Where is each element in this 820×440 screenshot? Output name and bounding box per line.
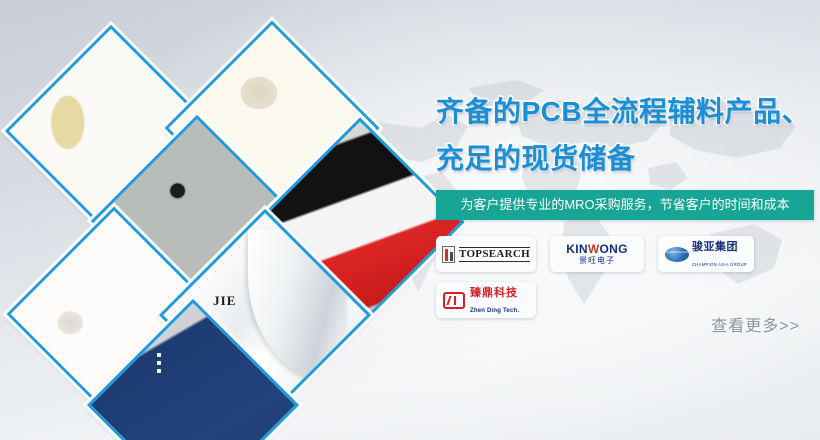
globe-icon — [665, 247, 689, 262]
logo-row-1: TOPSEARCH KINWONG 景旺电子 骏亚集团 CHAMPION ASI — [436, 236, 820, 272]
kinwong-chinese-name: 景旺电子 — [566, 257, 627, 265]
logo-topsearch[interactable]: TOPSEARCH — [436, 236, 536, 272]
kinwong-wordmark: KINWONG — [566, 243, 627, 255]
product-collage: JIE — [0, 0, 420, 440]
promo-banner: JIE 齐备的PCB全流程辅料产品、 充足的现货储备 为客户提供专业的MRO采购… — [0, 0, 820, 440]
topsearch-lockup: TOPSEARCH — [442, 246, 530, 263]
logo-kinwong[interactable]: KINWONG 景旺电子 — [550, 236, 644, 272]
zhen-ding-text: 臻鼎科技 Zhen Ding Tech. — [470, 284, 529, 316]
zhen-ding-mark-icon — [443, 292, 465, 309]
champion-asia-text: 骏亚集团 CHAMPION ASIA GROUP — [692, 238, 747, 270]
logo-zhen-ding[interactable]: 臻鼎科技 Zhen Ding Tech. — [436, 282, 536, 318]
zhen-ding-lockup: 臻鼎科技 Zhen Ding Tech. — [443, 284, 529, 316]
headline-line-2: 充足的现货储备 — [436, 137, 820, 177]
headline-line-1: 齐备的PCB全流程辅料产品、 — [436, 90, 820, 130]
zhen-ding-chinese-name: 臻鼎科技 — [470, 286, 518, 299]
zhen-ding-english-name: Zhen Ding Tech. — [470, 308, 519, 314]
view-more-link[interactable]: 查看更多>> — [711, 312, 800, 336]
sheet-corner-dots — [152, 349, 161, 377]
champion-asia-english-name: CHAMPION ASIA GROUP — [692, 262, 747, 267]
logo-champion-asia[interactable]: 骏亚集团 CHAMPION ASIA GROUP — [658, 236, 754, 272]
topsearch-mark-icon — [442, 246, 455, 263]
banner-content: 齐备的PCB全流程辅料产品、 充足的现货储备 为客户提供专业的MRO采购服务，节… — [428, 0, 820, 440]
champion-asia-chinese-name: 骏亚集团 — [692, 241, 738, 253]
topsearch-wordmark: TOPSEARCH — [459, 247, 530, 262]
film-print-label: JIE — [213, 293, 236, 309]
champion-asia-lockup: 骏亚集团 CHAMPION ASIA GROUP — [665, 238, 747, 270]
kinwong-lockup: KINWONG 景旺电子 — [566, 243, 627, 265]
subtitle-bar: 为客户提供专业的MRO采购服务，节省客户的时间和成本 — [436, 190, 814, 220]
